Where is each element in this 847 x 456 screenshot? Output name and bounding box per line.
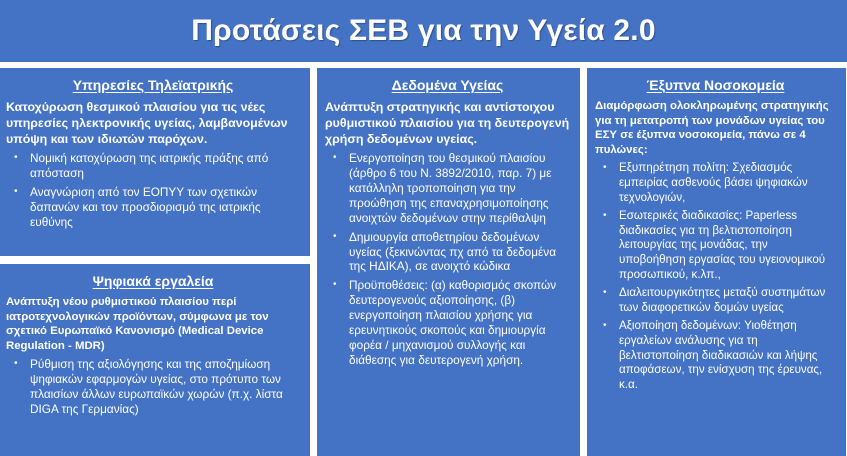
- column-telemedicine-digital-tools: Υπηρεσίες Τηλεϊατρικής Κατοχύρωση θεσμικ…: [0, 68, 310, 456]
- panel-telemedicine-services: Υπηρεσίες Τηλεϊατρικής Κατοχύρωση θεσμικ…: [0, 68, 310, 256]
- bullet-list-digital-tools: Ρύθμιση της αξιολόγησης και της αποζημίω…: [6, 357, 300, 416]
- list-item: Δημιουργία αποθετηρίου δεδομένων υγείας …: [325, 230, 570, 275]
- bullet-list-smart-hospitals: Εξυπηρέτηση πολίτη: Σχεδιασμός εμπειρίας…: [595, 161, 836, 392]
- panel-header-smart-hospitals: Έξυπνα Νοσοκομεία: [595, 77, 836, 93]
- list-item: Αξιοποίηση δεδομένων: Υιοθέτηση εργαλείω…: [595, 319, 836, 392]
- slide-root: Προτάσεις ΣΕΒ για την Υγεία 2.0 Υπηρεσίε…: [0, 0, 847, 456]
- list-item: Προϋποθέσεις: (α) καθορισμός σκοπών δευτ…: [325, 278, 570, 367]
- list-item: Νομική κατοχύρωση της ιατρικής πράξης απ…: [6, 151, 300, 181]
- column-smart-hospitals: Έξυπνα Νοσοκομεία Διαμόρφωση ολοκληρωμέν…: [587, 68, 846, 456]
- list-item: Διαλειτουργικότητες μεταξύ συστημάτων τω…: [595, 286, 836, 315]
- slide-title-bar: Προτάσεις ΣΕΒ για την Υγεία 2.0: [0, 0, 847, 62]
- columns-container: Υπηρεσίες Τηλεϊατρικής Κατοχύρωση θεσμικ…: [0, 68, 847, 456]
- panel-digital-tools: Ψηφιακά εργαλεία Ανάπτυξη νέου ρυθμιστικ…: [0, 264, 310, 456]
- panel-intro-health-data: Ανάπτυξη στρατηγικής και αντίστοιχου ρυθ…: [325, 99, 570, 147]
- bullet-list-telemedicine: Νομική κατοχύρωση της ιατρικής πράξης απ…: [6, 151, 300, 229]
- panel-intro-digital-tools: Ανάπτυξη νέου ρυθμιστικού πλαισίου περί …: [6, 295, 300, 353]
- page-title: Προτάσεις ΣΕΒ για την Υγεία 2.0: [191, 14, 655, 48]
- column-health-data: Δεδομένα Υγείας Ανάπτυξη στρατηγικής και…: [317, 68, 580, 456]
- list-item: Εσωτερικές διαδικασίες: Paperless διαδικ…: [595, 209, 836, 282]
- panel-header-health-data: Δεδομένα Υγείας: [325, 77, 570, 93]
- list-item: Εξυπηρέτηση πολίτη: Σχεδιασμός εμπειρίας…: [595, 161, 836, 205]
- list-item: Ρύθμιση της αξιολόγησης και της αποζημίω…: [6, 357, 300, 416]
- panel-smart-hospitals: Έξυπνα Νοσοκομεία Διαμόρφωση ολοκληρωμέν…: [587, 68, 846, 456]
- panel-intro-smart-hospitals: Διαμόρφωση ολοκληρωμένης στρατηγικής για…: [595, 99, 836, 157]
- bullet-list-health-data: Ενεργοποίηση του θεσμικού πλαισίου (άρθρ…: [325, 151, 570, 367]
- panel-intro-telemedicine: Κατοχύρωση θεσμικού πλαισίου για τις νέε…: [6, 99, 300, 147]
- list-item: Αναγνώριση από τον ΕΟΠΥΥ των σχετικών δα…: [6, 185, 300, 230]
- panel-header-digital-tools: Ψηφιακά εργαλεία: [6, 273, 300, 289]
- panel-health-data: Δεδομένα Υγείας Ανάπτυξη στρατηγικής και…: [317, 68, 580, 456]
- panel-header-telemedicine: Υπηρεσίες Τηλεϊατρικής: [6, 77, 300, 93]
- list-item: Ενεργοποίηση του θεσμικού πλαισίου (άρθρ…: [325, 151, 570, 225]
